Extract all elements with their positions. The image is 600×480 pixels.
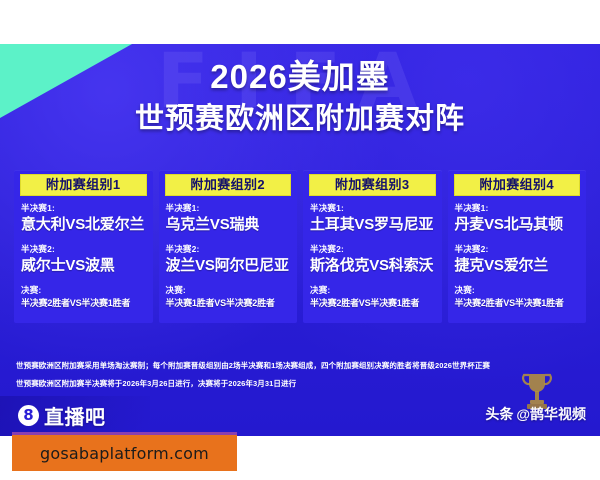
footnote-dates: 世预赛欧洲区附加赛半决赛将于2026年3月26日进行，决赛将于2026年3月31… <box>16 375 584 393</box>
credit-platform: 头条 <box>485 404 513 424</box>
group-3-final: 决赛: 半决赛2胜者VS半决赛1胜者 <box>303 284 442 310</box>
match-teams: 意大利VS北爱尔兰 <box>21 214 146 236</box>
match-label: 决赛: <box>166 284 291 296</box>
match-teams: 半决赛1胜者VS半决赛2胜者 <box>166 296 291 310</box>
playoff-groups-grid: 附加赛组别1 半决赛1: 意大利VS北爱尔兰 半决赛2: 威尔士VS波黑 决赛:… <box>14 170 586 323</box>
group-4-semifinal-2: 半决赛2: 捷克VS爱尔兰 <box>448 243 587 277</box>
match-label: 半决赛1: <box>166 202 291 214</box>
match-teams: 波兰VS阿尔巴尼亚 <box>166 255 291 277</box>
group-2-semifinal-1: 半决赛1: 乌克兰VS瑞典 <box>159 202 298 236</box>
credit-handle: @鹊华视频 <box>516 404 586 424</box>
match-teams: 半决赛2胜者VS半决赛1胜者 <box>310 296 435 310</box>
group-1-final: 决赛: 半决赛2胜者VS半决赛1胜者 <box>14 284 153 310</box>
footnotes: 世预赛欧洲区附加赛采用单场淘汰赛制；每个附加赛晋级组别由2场半决赛和1场决赛组成… <box>16 357 584 393</box>
poster-root: FIFA 2026美加墨 世预赛欧洲区附加赛对阵 附加赛组别1 半决赛1: 意大… <box>0 0 600 480</box>
group-card-2: 附加赛组别2 半决赛1: 乌克兰VS瑞典 半决赛2: 波兰VS阿尔巴尼亚 决赛:… <box>159 170 298 323</box>
url-watermark-banner: gosabaplatform.com <box>12 435 237 471</box>
channel-credit: 头条 @鹊华视频 <box>485 404 586 424</box>
match-label: 决赛: <box>310 284 435 296</box>
match-teams: 威尔士VS波黑 <box>21 255 146 277</box>
group-3-semifinal-2: 半决赛2: 斯洛伐克VS科索沃 <box>303 243 442 277</box>
group-card-3: 附加赛组别3 半决赛1: 土耳其VS罗马尼亚 半决赛2: 斯洛伐克VS科索沃 决… <box>303 170 442 323</box>
match-teams: 乌克兰VS瑞典 <box>166 214 291 236</box>
poster-body: FIFA 2026美加墨 世预赛欧洲区附加赛对阵 附加赛组别1 半决赛1: 意大… <box>0 44 600 436</box>
poster-headline: 2026美加墨 世预赛欧洲区附加赛对阵 <box>0 58 600 138</box>
match-label: 半决赛2: <box>455 243 580 255</box>
match-teams: 半决赛2胜者VS半决赛1胜者 <box>21 296 146 310</box>
group-2-final: 决赛: 半决赛1胜者VS半决赛2胜者 <box>159 284 298 310</box>
group-badge-1: 附加赛组别1 <box>20 174 147 196</box>
group-badge-3: 附加赛组别3 <box>309 174 436 196</box>
group-card-1: 附加赛组别1 半决赛1: 意大利VS北爱尔兰 半决赛2: 威尔士VS波黑 决赛:… <box>14 170 153 323</box>
group-3-semifinal-1: 半决赛1: 土耳其VS罗马尼亚 <box>303 202 442 236</box>
match-label: 决赛: <box>455 284 580 296</box>
match-teams: 半决赛2胜者VS半决赛1胜者 <box>455 296 580 310</box>
brand-name: 直播吧 <box>44 401 106 430</box>
headline-line-2: 世预赛欧洲区附加赛对阵 <box>0 100 600 138</box>
headline-line-1: 2026美加墨 <box>0 58 600 96</box>
match-label: 决赛: <box>21 284 146 296</box>
match-teams: 捷克VS爱尔兰 <box>455 255 580 277</box>
group-1-semifinal-1: 半决赛1: 意大利VS北爱尔兰 <box>14 202 153 236</box>
match-teams: 斯洛伐克VS科索沃 <box>310 255 435 277</box>
match-label: 半决赛1: <box>310 202 435 214</box>
group-4-semifinal-1: 半决赛1: 丹麦VS北马其顿 <box>448 202 587 236</box>
match-label: 半决赛1: <box>455 202 580 214</box>
top-white-strip <box>0 0 600 44</box>
group-badge-2: 附加赛组别2 <box>165 174 292 196</box>
match-label: 半决赛1: <box>21 202 146 214</box>
match-label: 半决赛2: <box>166 243 291 255</box>
group-1-semifinal-2: 半决赛2: 威尔士VS波黑 <box>14 243 153 277</box>
match-label: 半决赛2: <box>21 243 146 255</box>
brand-logo: 8 直播吧 <box>18 401 106 430</box>
match-label: 半决赛2: <box>310 243 435 255</box>
match-teams: 土耳其VS罗马尼亚 <box>310 214 435 236</box>
group-card-4: 附加赛组别4 半决赛1: 丹麦VS北马其顿 半决赛2: 捷克VS爱尔兰 决赛: … <box>448 170 587 323</box>
group-2-semifinal-2: 半决赛2: 波兰VS阿尔巴尼亚 <box>159 243 298 277</box>
group-4-final: 决赛: 半决赛2胜者VS半决赛1胜者 <box>448 284 587 310</box>
url-watermark-text: gosabaplatform.com <box>40 444 209 463</box>
footnote-rules: 世预赛欧洲区附加赛采用单场淘汰赛制；每个附加赛晋级组别由2场半决赛和1场决赛组成… <box>16 357 584 375</box>
brand-mark-icon: 8 <box>18 405 39 426</box>
match-teams: 丹麦VS北马其顿 <box>455 214 580 236</box>
group-badge-4: 附加赛组别4 <box>454 174 581 196</box>
